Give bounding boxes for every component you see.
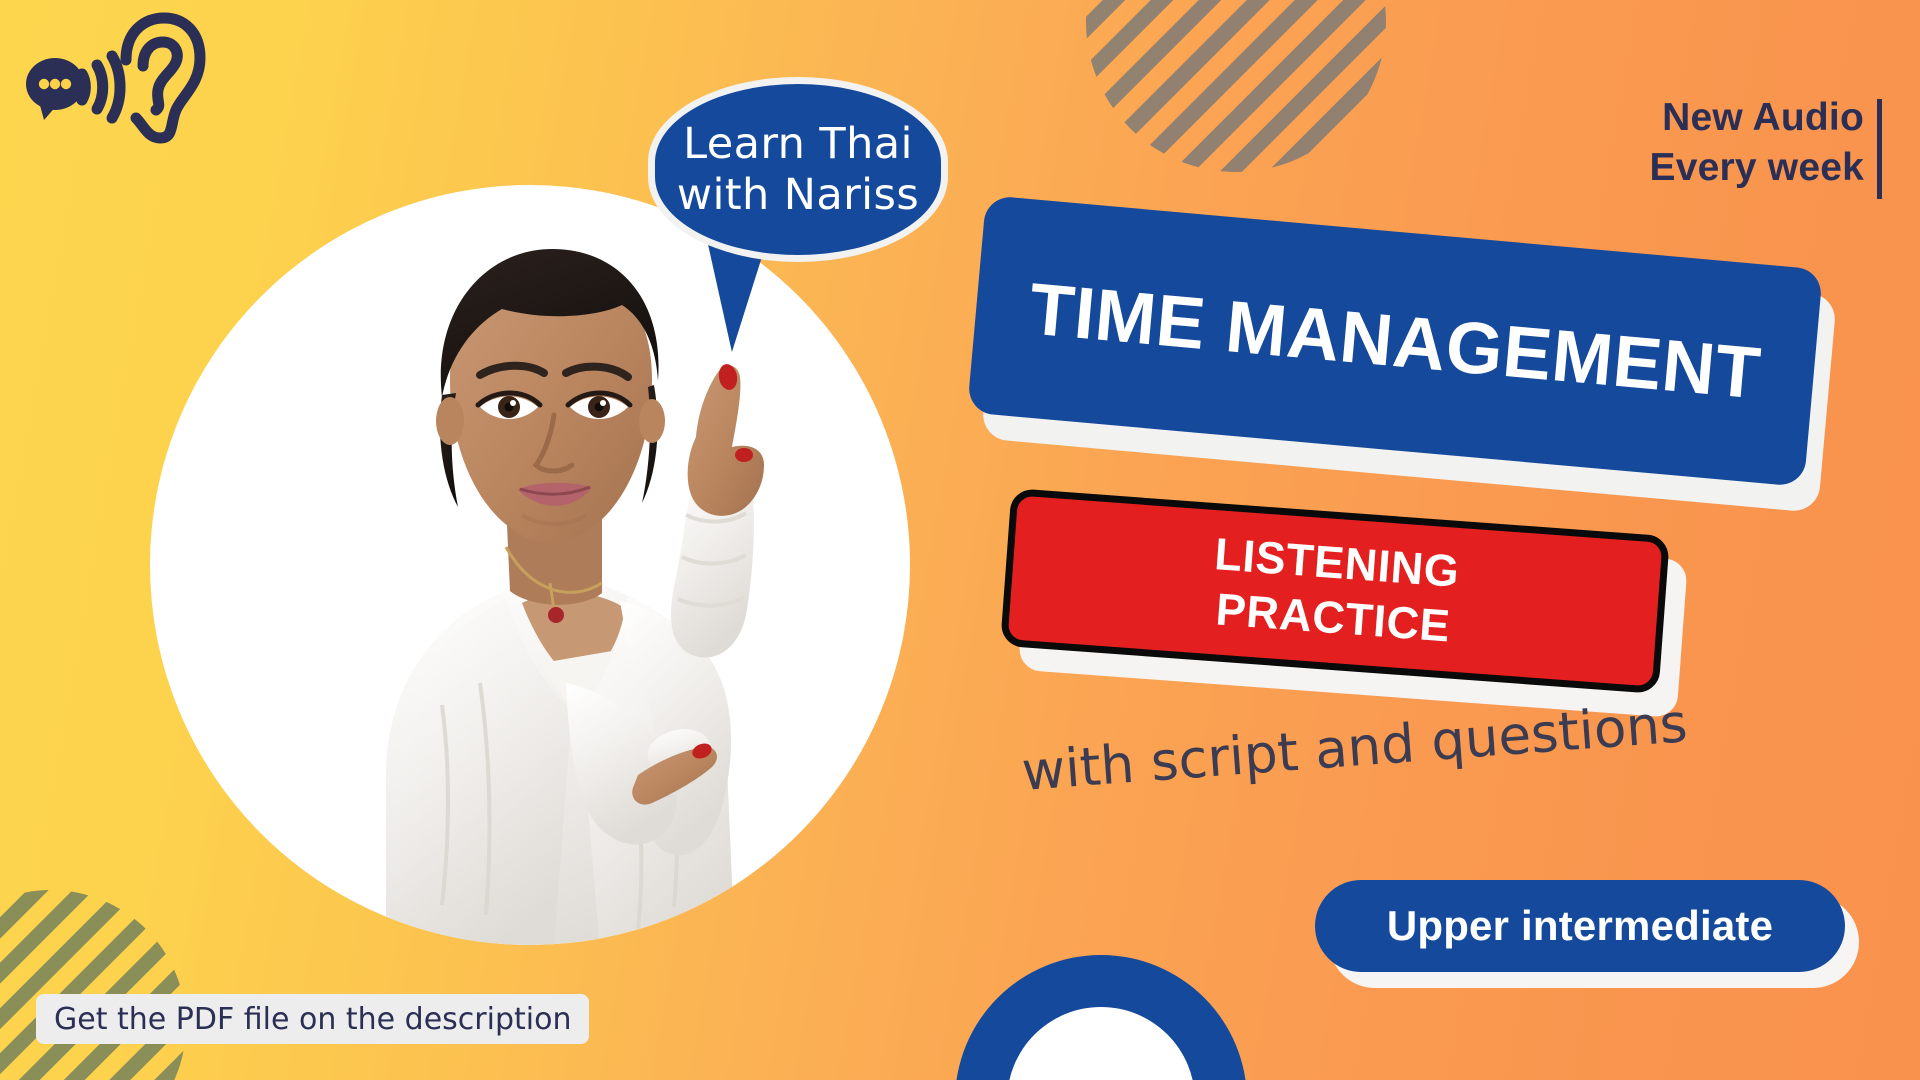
pdf-note-pill: Get the PDF file on the description — [36, 994, 589, 1044]
listening-ear-icon — [18, 12, 208, 162]
weekly-note-line-2: Every week — [1649, 143, 1864, 193]
speech-bubble: Learn Thai with Nariss — [648, 77, 948, 262]
weekly-note-line-1: New Audio — [1649, 93, 1864, 143]
presenter-portrait-circle — [150, 185, 910, 945]
pdf-note-label: Get the PDF file on the description — [54, 1002, 571, 1037]
speech-bubble-line-2: with Nariss — [677, 170, 919, 221]
striped-circle-top-right — [1086, 0, 1386, 172]
level-badge: Upper intermediate — [1315, 880, 1845, 972]
blue-ring-decoration — [955, 955, 1247, 1080]
level-badge-label: Upper intermediate — [1387, 902, 1773, 950]
weekly-audio-note: New Audio Every week — [1649, 93, 1864, 193]
level-badge-group: Upper intermediate — [1315, 880, 1875, 1000]
page-title: TIME MANAGEMENT — [1026, 267, 1764, 415]
speech-bubble-body: Learn Thai with Nariss — [648, 77, 948, 262]
title-card-group: TIME MANAGEMENT — [975, 232, 1835, 482]
presenter-portrait — [150, 185, 910, 945]
practice-card-group: LISTENING PRACTICE — [1005, 512, 1695, 712]
speech-bubble-line-1: Learn Thai — [683, 119, 913, 170]
weekly-note-divider — [1877, 99, 1882, 199]
thumbnail-canvas: Learn Thai with Nariss New Audio Every w… — [0, 0, 1920, 1080]
